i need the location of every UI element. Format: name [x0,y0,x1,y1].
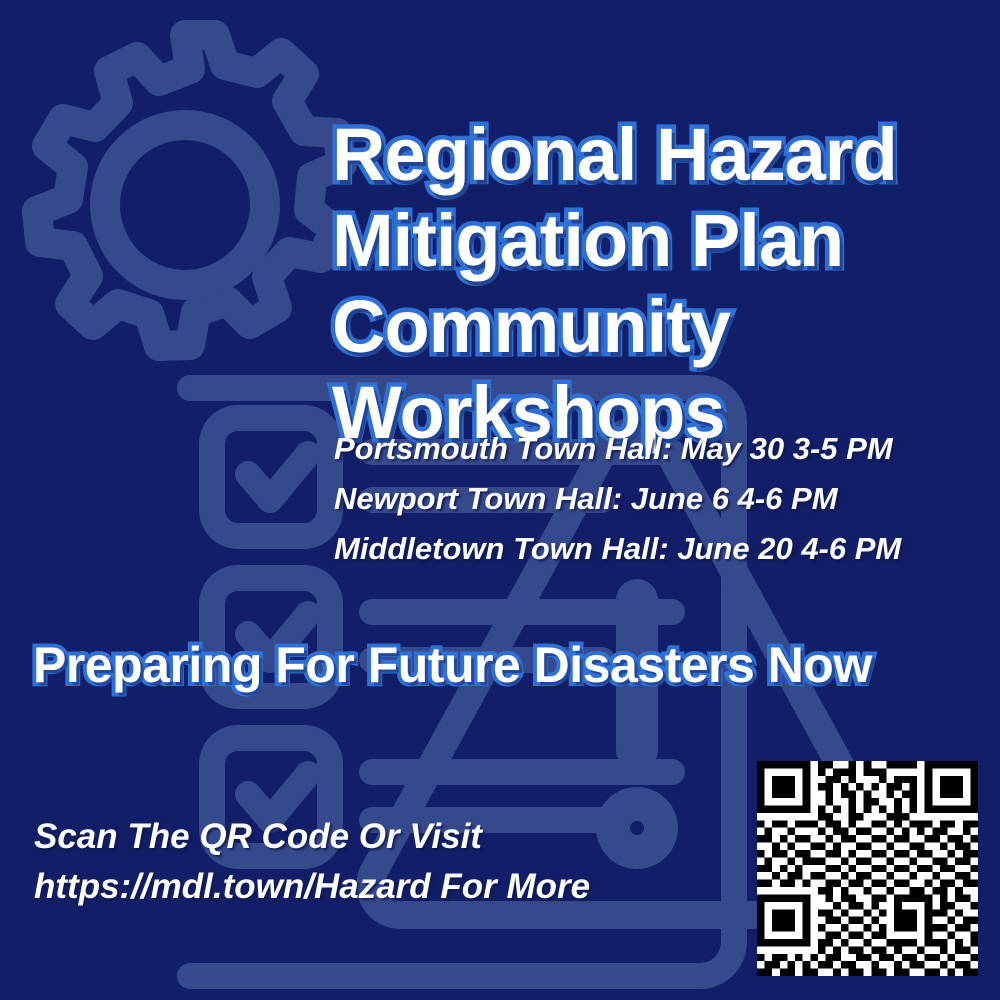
qr-code[interactable] [757,761,978,976]
qr-code-canvas [757,761,978,976]
tagline-banner: Preparing For Future Disasters Now [33,636,978,694]
page-title: Regional Hazard Mitigation Plan Communit… [332,112,992,456]
workshop-schedule-list: Portsmouth Town Hall: May 30 3-5 PM Newp… [334,424,984,574]
list-item: Portsmouth Town Hall: May 30 3-5 PM [334,424,984,474]
call-to-action-text: Scan The QR Code Or Visit https://mdl.to… [34,812,734,912]
gear-icon [37,35,342,346]
list-item: Middletown Town Hall: June 20 4-6 PM [334,524,984,574]
cta-line-scan: Scan The QR Code Or Visit [34,812,734,862]
cta-line-url: https://mdl.town/Hazard For More [34,862,734,912]
poster-canvas: Regional Hazard Mitigation Plan Communit… [0,0,1000,1000]
list-item: Newport Town Hall: June 6 4-6 PM [334,474,984,524]
